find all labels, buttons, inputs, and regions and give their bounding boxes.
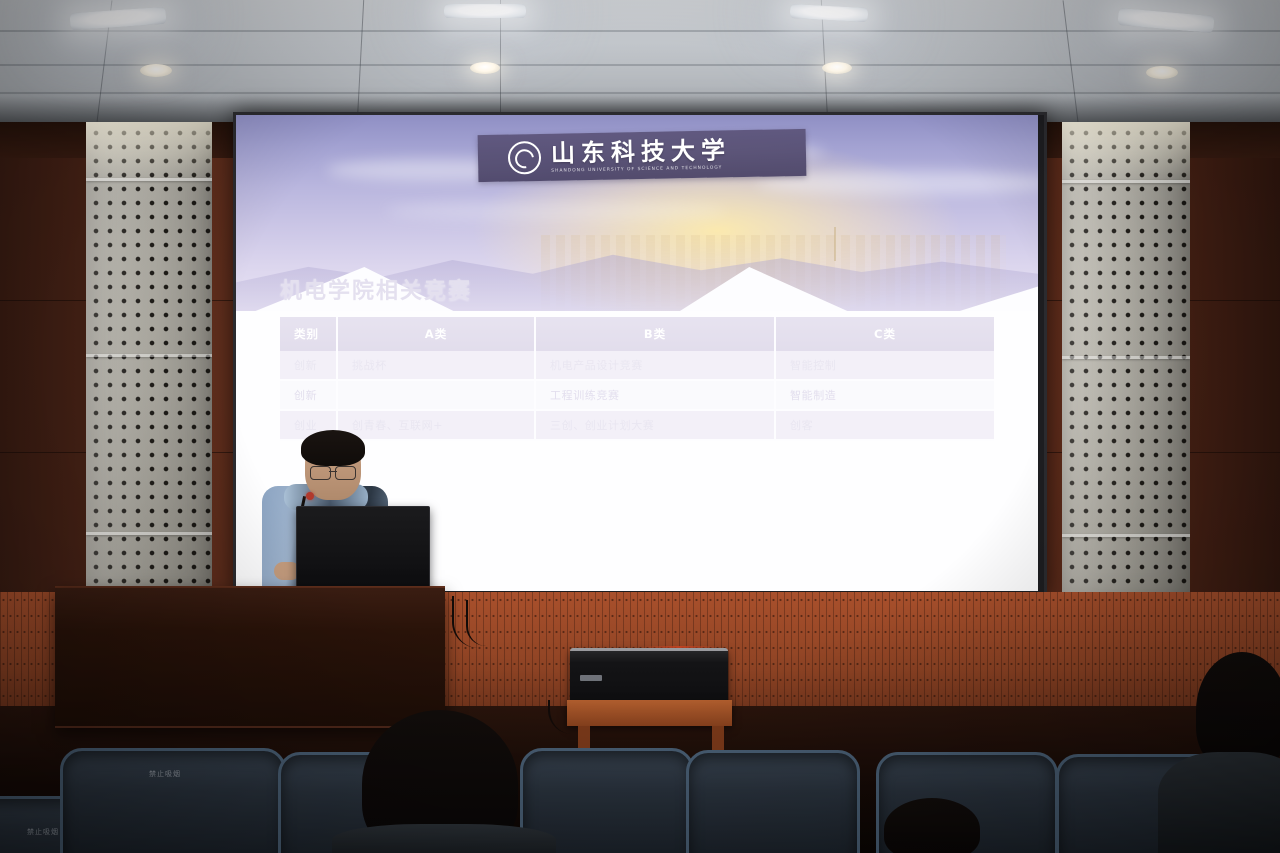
speaker-podium	[55, 588, 445, 728]
ceiling-beam	[0, 92, 1280, 94]
table-row: 创新 挑战杯 机电产品设计竞赛 智能控制	[280, 351, 994, 380]
presenter-hair	[301, 430, 365, 466]
university-name-zh: 山东科技大学	[551, 138, 731, 165]
cell-class-c: 智能制造	[775, 380, 994, 410]
cell-class-c: 智能控制	[775, 351, 994, 380]
tree-silhouette	[834, 227, 836, 261]
acoustic-panel-left	[86, 122, 212, 600]
cell-category: 创新	[280, 380, 337, 410]
cell-class-b: 三创、创业计划大赛	[535, 410, 775, 440]
table-header-class-a: A类	[337, 317, 535, 351]
panel-seam	[1062, 356, 1190, 359]
audience-shoulders	[332, 824, 556, 853]
cell-category: 创新	[280, 351, 337, 380]
panel-seam	[1062, 180, 1190, 183]
audience-shoulders	[1158, 752, 1280, 853]
panel-seam	[86, 178, 212, 181]
ceiling-panel-light	[790, 4, 869, 22]
cell-class-a	[337, 380, 535, 410]
university-emblem-icon	[508, 141, 542, 175]
table-header-row: 类别 A类 B类 C类	[280, 317, 994, 351]
slide-title: 机电学院相关竞赛	[280, 273, 472, 305]
ceiling-beam	[0, 30, 1280, 32]
cell-class-b: 机电产品设计竞赛	[535, 351, 775, 380]
audience-seat: 禁止吸烟	[60, 748, 286, 853]
ceiling-downlight	[470, 62, 500, 74]
cell-class-c: 创客	[775, 410, 994, 440]
ceiling-panel-light	[70, 7, 167, 31]
lecture-hall-photo: 山东科技大学 SHANDONG UNIVERSITY OF SCIENCE AN…	[0, 0, 1280, 853]
acoustic-panel-right	[1062, 122, 1190, 600]
eyeglasses-icon	[310, 466, 356, 478]
university-logo-banner: 山东科技大学 SHANDONG UNIVERSITY OF SCIENCE AN…	[478, 129, 807, 182]
panel-seam	[86, 532, 212, 535]
table-header-category: 类别	[280, 317, 337, 351]
seat-label: 禁止吸烟	[149, 769, 181, 779]
projector-brand-badge	[580, 675, 602, 681]
panel-light-spill	[86, 122, 212, 180]
seat-label: 禁止吸烟	[27, 827, 59, 837]
ceiling-downlight	[140, 64, 172, 77]
ceiling	[0, 0, 1280, 122]
projector-stand	[567, 700, 732, 726]
table-header-class-b: B类	[535, 317, 775, 351]
cell-class-b: 工程训练竞赛	[535, 380, 775, 410]
cloud	[386, 201, 726, 221]
panel-light-spill	[1062, 122, 1190, 180]
cell-class-a: 挑战杯	[337, 351, 535, 380]
ceiling-downlight	[1146, 66, 1178, 79]
microphone-head-icon	[306, 492, 314, 500]
panel-seam	[86, 354, 212, 357]
ceiling-panel-light	[444, 4, 526, 18]
projector-unit	[570, 648, 728, 705]
audience-head	[884, 798, 980, 853]
competition-table: 类别 A类 B类 C类 创新 挑战杯 机电产品设计竞赛 智能控制 创新 工程训练…	[280, 317, 994, 441]
panel-seam	[1062, 534, 1190, 537]
table-row: 创新 工程训练竞赛 智能制造	[280, 380, 994, 410]
table-header-class-c: C类	[775, 317, 994, 351]
presenter-laptop	[296, 506, 430, 592]
ceiling-beam	[0, 64, 1280, 66]
ceiling-downlight	[822, 62, 852, 74]
audience-seat	[686, 750, 860, 853]
